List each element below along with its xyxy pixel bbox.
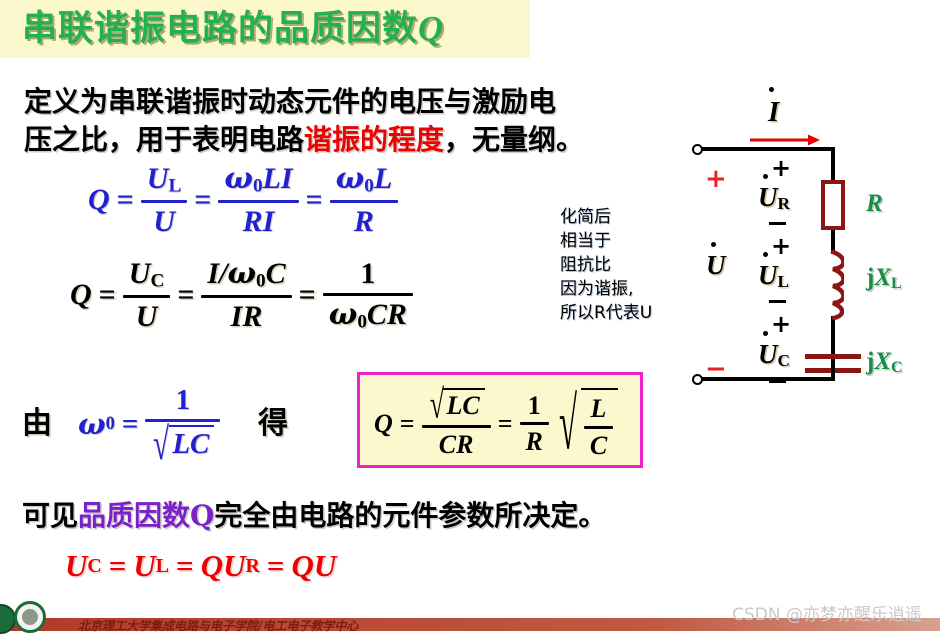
source-voltage-label: U — [706, 250, 726, 281]
page-title-symbol: Q — [418, 9, 444, 48]
f4-t2-den: R — [520, 428, 549, 456]
university-logo — [14, 601, 46, 633]
formula1-eq-3: = — [306, 183, 323, 217]
capacitor-plate-top — [805, 354, 861, 359]
f4-t2-num: 1 — [522, 392, 547, 420]
fraction-bar — [141, 200, 187, 203]
f5-eq-3: = — [267, 548, 285, 584]
formula2-lhs: Q — [70, 278, 92, 312]
conclusion-part-a: 可见 — [22, 499, 78, 532]
intro-line-2-part-a: 压之比，用于表明电路 — [24, 123, 304, 156]
f1-t3-num-rest: L — [374, 162, 392, 195]
formula-omega0: ω0 = 1 √ LC — [78, 385, 220, 463]
f5-qur-sub: R — [245, 555, 259, 578]
radical-icon: √ — [153, 420, 169, 468]
intro-line-2-part-c: ，无量纲。 — [444, 123, 584, 156]
fraction-bar — [520, 422, 549, 425]
circuit-diagram: I R jXL jXC + U − + UR + UL + UC — [690, 92, 940, 432]
f4-term-1: √ LC CR — [422, 388, 491, 459]
side-note: 化简后 相当于 阻抗比 因为谐振, 所以R代表U — [560, 205, 652, 325]
f1-t1-den: U — [147, 206, 181, 238]
fraction-bar — [218, 200, 298, 203]
page-title-text: 串联谐振电路的品质因数 — [22, 8, 418, 49]
f2-t2-num-rest: C — [266, 257, 286, 290]
formula2-term-1: UC U — [123, 258, 171, 333]
formula1-eq-2: = — [194, 183, 211, 217]
sqrt-lc: √ LC — [428, 388, 485, 422]
impedance-label-r: R — [866, 190, 883, 218]
formula1-term-3: ω0L R — [330, 163, 399, 238]
formula2-term-3: 1 ω0CR — [323, 258, 413, 333]
footer-organization: 北京理工大学集成电路与电子学院/电工电子教学中心 — [78, 617, 358, 634]
f2-t3-num: 1 — [354, 258, 381, 290]
f1-t3-omega-sub: 0 — [364, 175, 374, 196]
resistor-symbol — [821, 180, 845, 230]
f4-t1-radicand: LC — [443, 388, 484, 422]
fraction-bar — [584, 426, 613, 429]
intro-line-2: 压之比，用于表明电路谐振的程度，无量纲。 — [24, 122, 584, 158]
f1-t1-num-sub: L — [168, 175, 181, 196]
f5-uc: U — [65, 548, 87, 584]
f3-eq: = — [122, 408, 139, 441]
label-由: 由 — [22, 398, 52, 442]
fraction-bar — [323, 293, 413, 296]
f1-t2-omega-sub: 0 — [253, 175, 263, 196]
formula1-lhs: Q — [88, 183, 110, 217]
intro-highlight-resonance: 谐振的程度 — [304, 123, 444, 156]
conclusion-line: 可见品质因数Q完全由电路的元件参数所决定。 — [22, 498, 606, 534]
f1-t3-omega: ω — [336, 161, 365, 196]
f1-t3-den: R — [348, 206, 380, 238]
formula-q-boxed: Q = √ LC CR = 1 R √ L C — [374, 388, 618, 459]
conclusion-highlight-q: 品质因数Q — [78, 499, 214, 532]
f2-t2-num: I/ — [207, 257, 227, 290]
current-arrow-icon — [750, 134, 820, 148]
f2-t3-omega-sub: 0 — [357, 311, 367, 332]
sqrt-lc: √ LC — [151, 425, 214, 463]
f1-t2-den: RI — [237, 206, 281, 238]
csdn-watermark: CSDN @亦梦亦醒乐逍遥 — [732, 600, 922, 625]
formula1-eq-1: = — [117, 183, 134, 217]
f1-t2-omega: ω — [224, 161, 253, 196]
current-label: I — [768, 96, 779, 129]
f5-qur: QU — [201, 548, 246, 584]
f4-t3-num: L — [585, 395, 613, 423]
f1-t2-num-rest: LI — [263, 162, 293, 195]
f5-qu: QU — [291, 548, 336, 584]
source-plus-sign: + — [705, 164, 727, 194]
f5-eq-1: = — [109, 548, 127, 584]
f2-t1-num: U — [129, 257, 151, 290]
f3-fraction: 1 √ LC — [145, 385, 220, 463]
inductor-symbol — [818, 250, 844, 320]
fraction-bar — [330, 200, 399, 203]
impedance-label-xc: jXC — [866, 348, 903, 377]
f4-term-3: L C — [584, 395, 613, 459]
source-minus-sign: − — [705, 354, 727, 384]
f3-omega: ω — [78, 407, 106, 441]
radical-icon: √ — [559, 376, 577, 472]
formula1-term-1: UL U — [141, 163, 187, 238]
f2-t1-num-sub: C — [150, 270, 164, 291]
f2-t2-den: IR — [225, 301, 269, 333]
f2-t3-den-rest: CR — [367, 298, 407, 331]
formula-voltage-relations: UC = UL = QUR = QU — [65, 548, 336, 584]
f2-t2-omega: ω — [227, 256, 256, 291]
radical-icon: √ — [429, 384, 443, 427]
ur-minus-sign — [769, 222, 786, 225]
f4-eq-1: = — [400, 409, 415, 439]
f2-t3-omega: ω — [329, 297, 358, 332]
f2-t1-den: U — [130, 301, 164, 333]
f5-ul: U — [133, 548, 155, 584]
formula2-eq-3: = — [299, 278, 316, 312]
fraction-bar — [123, 295, 171, 298]
ul-minus-sign — [769, 300, 786, 303]
page-title: 串联谐振电路的品质因数Q — [22, 4, 522, 54]
f3-num: 1 — [170, 385, 197, 416]
formula1-term-2: ω0LI RI — [218, 163, 298, 238]
f1-t1-num: U — [147, 162, 169, 195]
formula2-term-2: I/ω0C IR — [201, 258, 291, 333]
f4-t3-den: C — [584, 432, 613, 460]
f5-ul-sub: L — [156, 555, 169, 578]
formula-q-capacitive: Q = UC U = I/ω0C IR = 1 ω0CR — [70, 258, 413, 333]
logo-inner-emblem — [22, 609, 38, 625]
f3-omega-sub: 0 — [106, 413, 115, 435]
f3-radicand: LC — [169, 425, 214, 463]
f5-uc-sub: C — [87, 555, 101, 578]
f5-eq-2: = — [176, 548, 194, 584]
wire-top — [702, 147, 835, 151]
uc-minus-sign — [769, 380, 786, 383]
conclusion-part-c: 完全由电路的元件参数所决定。 — [214, 499, 606, 532]
f4-eq-2: = — [498, 409, 513, 439]
f2-t2-omega-sub: 0 — [256, 270, 266, 291]
sqrt-l-over-c: √ L C — [553, 388, 618, 459]
f4-lhs: Q — [374, 409, 393, 439]
wire-right-1 — [831, 147, 835, 180]
fraction-bar — [201, 295, 291, 298]
f4-term-2: 1 R — [520, 392, 549, 456]
formula-q-inductive: Q = UL U = ω0LI RI = ω0L R — [88, 163, 398, 238]
intro-line-1: 定义为串联谐振时动态元件的电压与激励电 — [24, 84, 556, 120]
label-得: 得 — [258, 398, 288, 442]
voltage-label-ur: UR — [758, 182, 790, 214]
f4-t1-den: CR — [433, 431, 480, 459]
formula2-eq-1: = — [99, 278, 116, 312]
impedance-label-xl: jXL — [866, 264, 902, 293]
voltage-label-ul: UL — [758, 260, 789, 292]
formula2-eq-2: = — [177, 278, 194, 312]
uc-plus-sign: + — [771, 310, 791, 338]
wire-cap-bottom — [831, 366, 835, 381]
ul-plus-sign: + — [771, 232, 791, 260]
ur-plus-sign: + — [771, 154, 791, 182]
voltage-label-uc: UC — [758, 339, 790, 371]
